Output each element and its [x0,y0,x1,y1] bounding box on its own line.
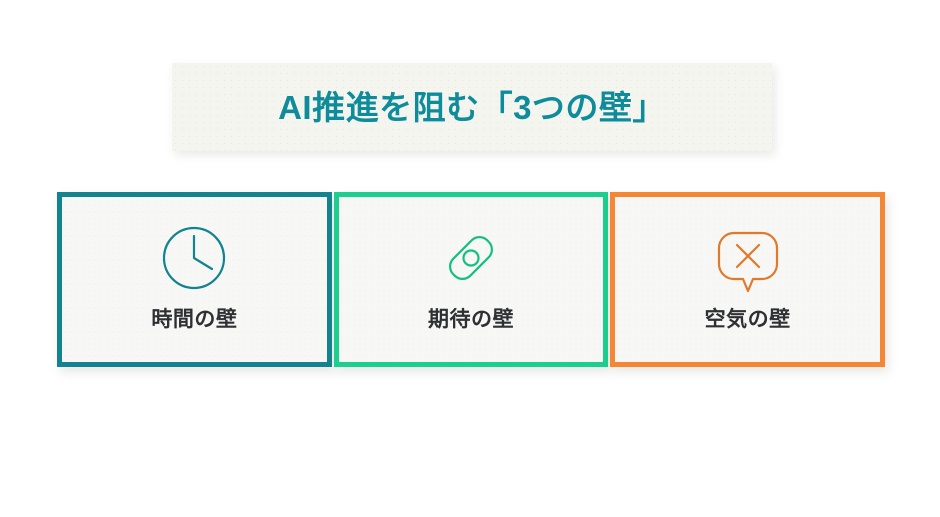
card-label-time-wall: 時間の壁 [151,309,237,330]
speech-bubble-x-icon [709,219,787,297]
card-expectation-wall[interactable]: 期待の壁 [334,192,609,367]
clock-icon [155,219,233,297]
card-time-wall[interactable]: 時間の壁 [57,192,332,367]
card-label-atmosphere-wall: 空気の壁 [705,309,791,330]
slide-canvas: AI推進を阻む「3つの壁」 時間の壁 [0,0,940,517]
wall-cards-row: 時間の壁 期待の壁 空気の壁 [57,192,885,367]
title-banner: AI推進を阻む「3つの壁」 [172,63,772,151]
page-title: AI推進を阻む「3つの壁」 [278,91,666,124]
bandage-icon [432,219,510,297]
card-atmosphere-wall[interactable]: 空気の壁 [610,192,885,367]
card-label-expectation-wall: 期待の壁 [428,309,514,330]
